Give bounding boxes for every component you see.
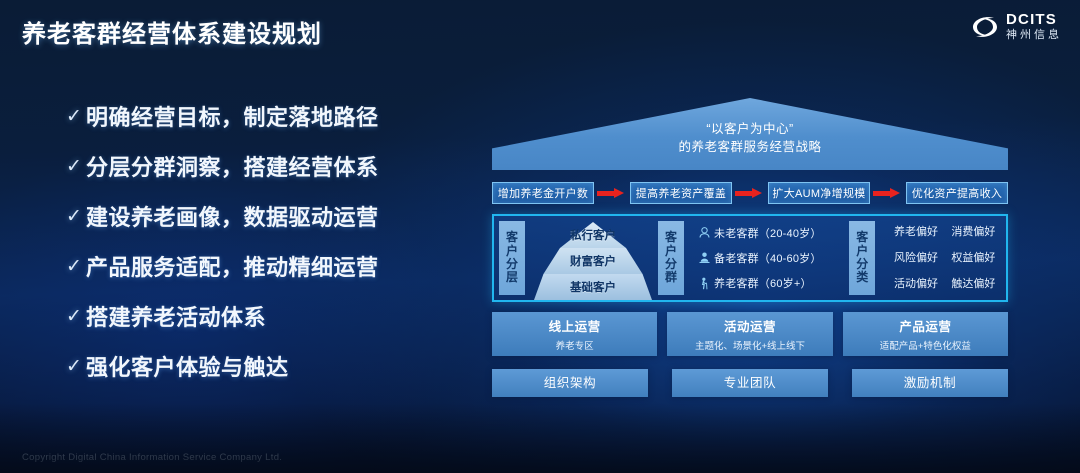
page-title: 养老客群经营体系建设规划 (22, 14, 322, 49)
strategy-roof: “以客户为中心” 的养老客群服务经营战略 (492, 98, 1008, 170)
bullet-label: 建设养老画像，数据驱动运营 (86, 200, 379, 232)
vlabel-char: 分 (506, 258, 518, 271)
logo-cn-text: 神州信息 (1006, 30, 1062, 41)
check-icon: ✓ (66, 205, 86, 228)
company-logo: DCITS 神州信息 (970, 12, 1062, 41)
list-item[interactable]: 备老客群（40-60岁） (694, 245, 848, 270)
operation-subtitle: 主题化、场景化+线上线下 (695, 338, 805, 352)
list-item: ✓ 分层分群洞察，搭建经营体系 (66, 150, 466, 182)
operation-card[interactable]: 线上运营 养老专区 (492, 312, 657, 356)
list-item: ✓ 产品服务适配，推动精细运营 (66, 250, 466, 282)
bullet-label: 强化客户体验与触达 (86, 350, 289, 382)
operation-title: 活动运营 (724, 316, 776, 335)
segment-label: 未老客群（20-40岁） (714, 225, 822, 241)
arrow-right-icon (735, 188, 765, 198)
operation-title: 产品运营 (899, 316, 951, 335)
vlabel-char: 客 (856, 231, 868, 244)
slide-header: 养老客群经营体系建设规划 DCITS 神州信息 (0, 0, 1080, 58)
customer-analysis-panel: 客 户 分 层 私行客户 财富客户 基础客户 (492, 214, 1008, 302)
bullet-list: ✓ 明确经营目标，制定落地路径 ✓ 分层分群洞察，搭建经营体系 ✓ 建设养老画像… (66, 100, 466, 400)
bullet-label: 明确经营目标，制定落地路径 (86, 100, 379, 132)
operation-card[interactable]: 产品运营 适配产品+特色化权益 (843, 312, 1008, 356)
kpi-box[interactable]: 扩大AUM净增规模 (768, 182, 870, 204)
list-item: ✓ 明确经营目标，制定落地路径 (66, 100, 466, 132)
customer-tiering-label: 客 户 分 层 (499, 221, 525, 295)
copyright-notice: Copyright Digital China Information Serv… (22, 452, 282, 463)
preference-tag[interactable]: 消费偏好 (945, 219, 1002, 245)
operation-title: 线上运营 (549, 316, 601, 335)
vlabel-char: 类 (856, 271, 868, 284)
check-icon: ✓ (66, 155, 86, 178)
pyramid-tier[interactable]: 基础客户 (534, 274, 652, 300)
roof-text: “以客户为中心” 的养老客群服务经营战略 (492, 120, 1008, 156)
foundation-box[interactable]: 激励机制 (852, 369, 1008, 397)
foundation-box[interactable]: 组织架构 (492, 369, 648, 397)
preference-tag[interactable]: 风险偏好 (887, 245, 944, 271)
vlabel-char: 户 (856, 245, 868, 258)
list-item: ✓ 搭建养老活动体系 (66, 300, 466, 332)
preference-tag[interactable]: 养老偏好 (887, 219, 944, 245)
bullet-label: 分层分群洞察，搭建经营体系 (86, 150, 379, 182)
pyramid-tier[interactable]: 私行客户 (534, 222, 652, 248)
vlabel-char: 层 (506, 271, 518, 284)
arrow-right-icon (873, 188, 903, 198)
person-desk-icon (694, 251, 714, 264)
strategy-diagram: “以客户为中心” 的养老客群服务经营战略 增加养老金开户数 提高养老资产覆盖 扩… (492, 98, 1008, 428)
customer-grouping-label: 客 户 分 群 (658, 221, 684, 295)
customer-pyramid: 私行客户 财富客户 基础客户 (529, 220, 657, 296)
roof-line-2: 的养老客群服务经营战略 (492, 138, 1008, 156)
list-item[interactable]: 养老客群（60岁+） (694, 271, 848, 296)
vlabel-char: 户 (665, 245, 677, 258)
pyramid-tier-label: 私行客户 (570, 227, 616, 243)
pyramid-tier[interactable]: 财富客户 (534, 248, 652, 274)
swirl-icon (970, 14, 1000, 40)
kpi-chain: 增加养老金开户数 提高养老资产覆盖 扩大AUM净增规模 优化资产提高收入 (492, 182, 1008, 204)
elderly-cane-icon (694, 277, 714, 290)
check-icon: ✓ (66, 255, 86, 278)
bullet-label: 搭建养老活动体系 (86, 300, 266, 332)
customer-segment-list: 未老客群（20-40岁） 备老客群（40-60岁） 养老客群（60岁+） (688, 220, 848, 296)
vlabel-char: 群 (665, 271, 677, 284)
list-item: ✓ 建设养老画像，数据驱动运营 (66, 200, 466, 232)
list-item[interactable]: 未老客群（20-40岁） (694, 220, 848, 245)
pyramid-tier-label: 财富客户 (570, 253, 616, 269)
arrow-right-icon (597, 188, 627, 198)
pyramid-tier-label: 基础客户 (570, 279, 616, 295)
kpi-box[interactable]: 增加养老金开户数 (492, 182, 594, 204)
foundation-row: 组织架构 专业团队 激励机制 (492, 369, 1008, 397)
kpi-box[interactable]: 提高养老资产覆盖 (630, 182, 732, 204)
operations-row: 线上运营 养老专区 活动运营 主题化、场景化+线上线下 产品运营 适配产品+特色… (492, 312, 1008, 356)
kpi-box[interactable]: 优化资产提高收入 (906, 182, 1008, 204)
check-icon: ✓ (66, 305, 86, 328)
vlabel-char: 客 (665, 231, 677, 244)
vlabel-char: 户 (506, 245, 518, 258)
customer-classification-label: 客 户 分 类 (849, 221, 875, 295)
preference-grid: 养老偏好 消费偏好 风险偏好 权益偏好 活动偏好 触达偏好 (879, 220, 1002, 296)
check-icon: ✓ (66, 105, 86, 128)
roof-line-1: “以客户为中心” (492, 120, 1008, 138)
preference-tag[interactable]: 触达偏好 (945, 271, 1002, 297)
check-icon: ✓ (66, 355, 86, 378)
vlabel-char: 客 (506, 231, 518, 244)
preference-tag[interactable]: 活动偏好 (887, 271, 944, 297)
operation-subtitle: 养老专区 (556, 338, 594, 352)
list-item: ✓ 强化客户体验与触达 (66, 350, 466, 382)
foundation-box[interactable]: 专业团队 (672, 369, 828, 397)
bullet-label: 产品服务适配，推动精细运营 (86, 250, 379, 282)
slide-canvas: 养老客群经营体系建设规划 DCITS 神州信息 ✓ 明确经营目标，制定落地路径 … (0, 0, 1080, 473)
segment-label: 养老客群（60岁+） (714, 275, 812, 291)
operation-card[interactable]: 活动运营 主题化、场景化+线上线下 (667, 312, 832, 356)
preference-tag[interactable]: 权益偏好 (945, 245, 1002, 271)
woman-head-icon (694, 226, 714, 239)
logo-en-text: DCITS (1006, 12, 1062, 27)
operation-subtitle: 适配产品+特色化权益 (880, 338, 971, 352)
segment-label: 备老客群（40-60岁） (714, 250, 822, 266)
